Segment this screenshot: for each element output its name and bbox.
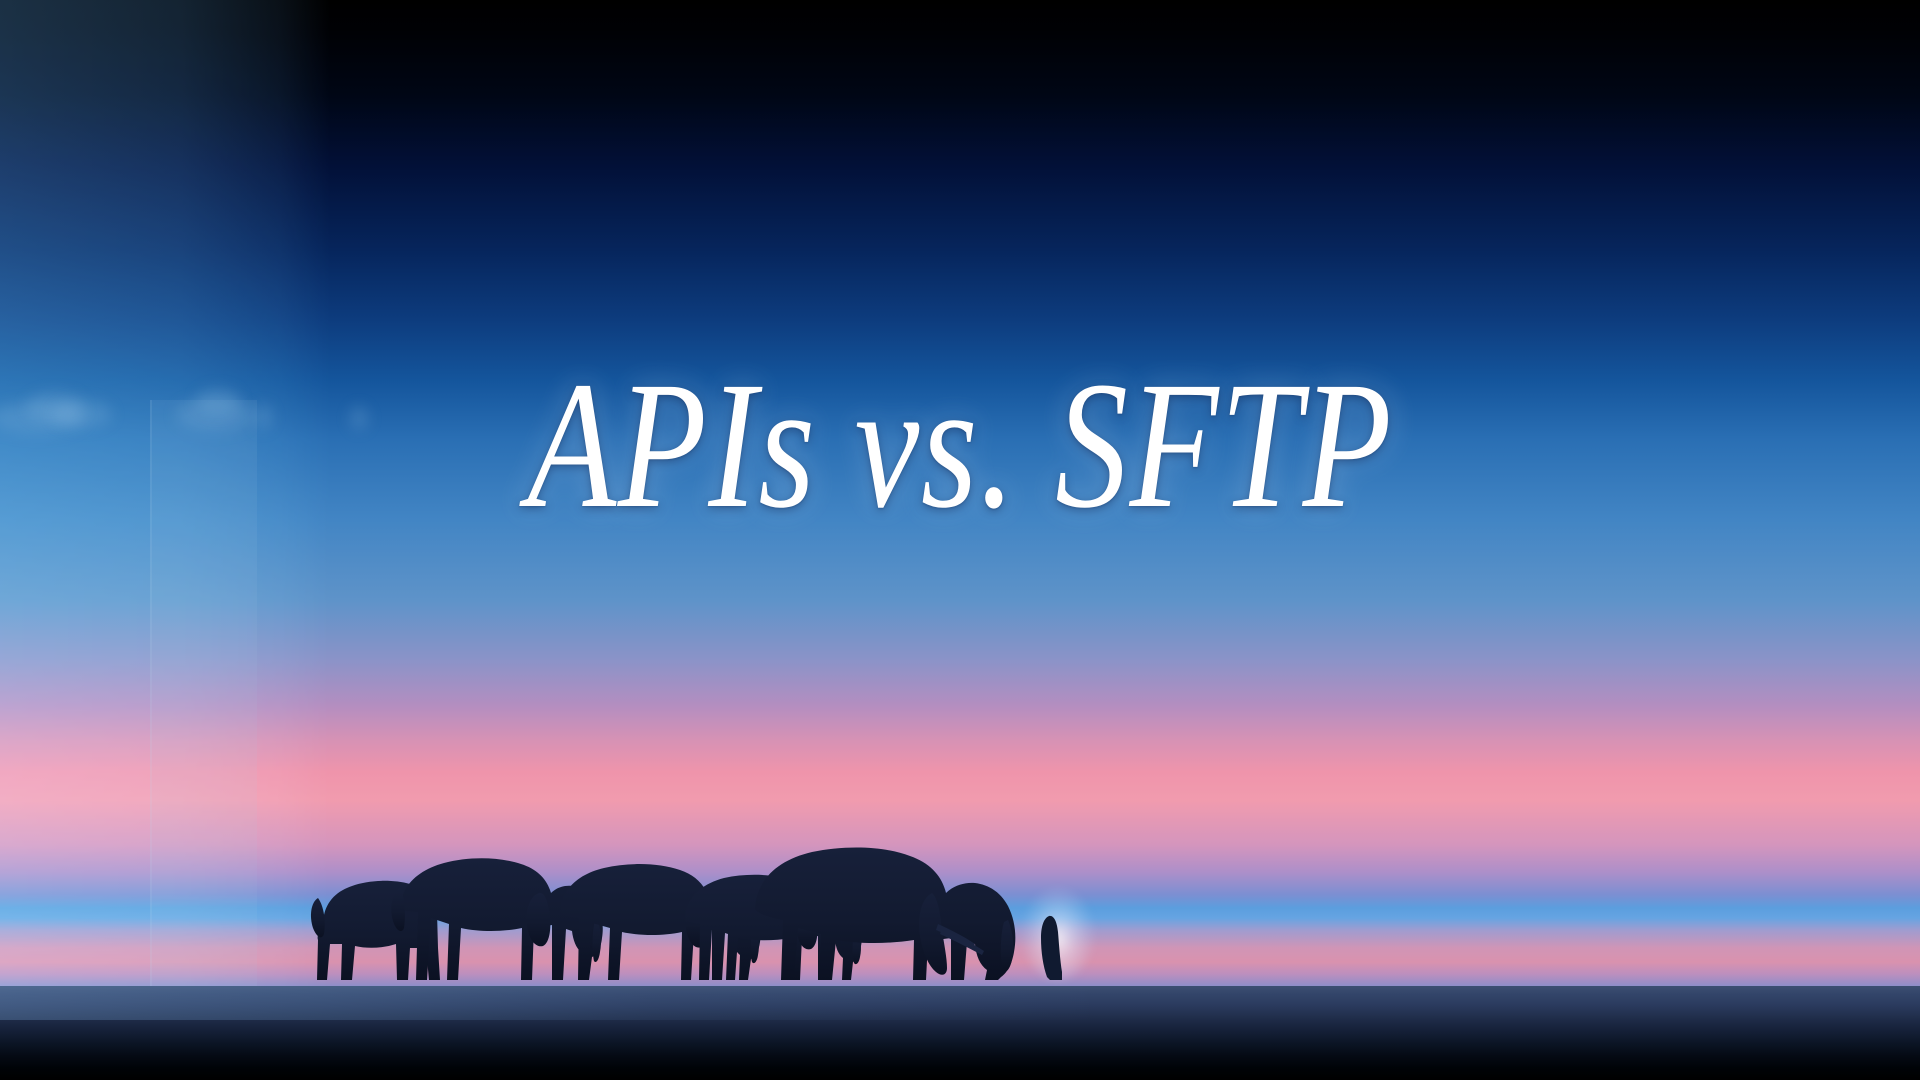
ground-sheen — [0, 986, 1100, 1020]
hero-banner: APIs vs. SFTP — [0, 0, 1920, 1080]
backlit-glow — [1022, 888, 1094, 980]
title-block: APIs vs. SFTP — [0, 355, 1920, 537]
page-title: APIs vs. SFTP — [527, 355, 1393, 537]
